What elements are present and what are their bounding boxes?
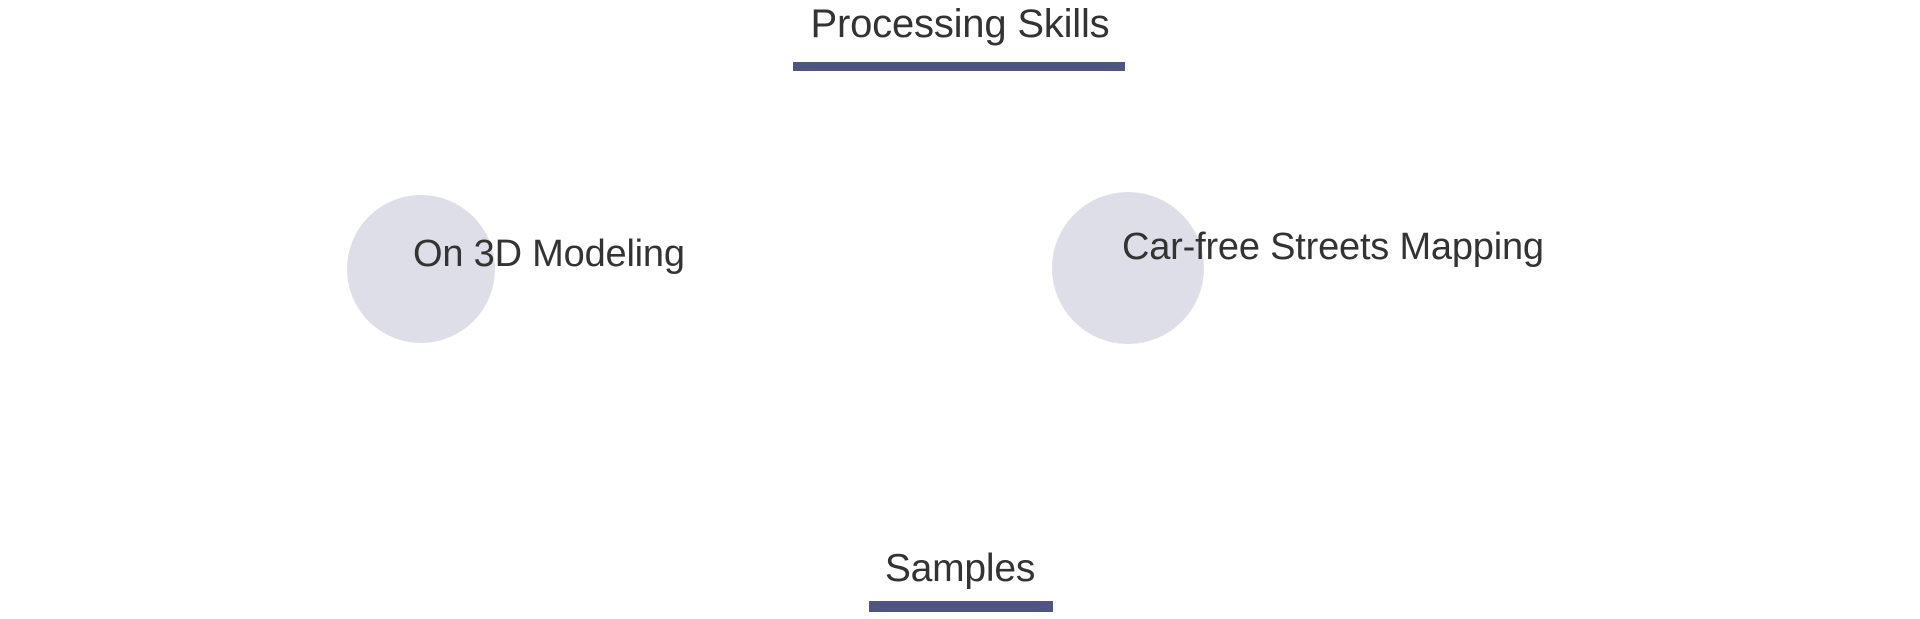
diagram-canvas: Processing Skills On 3D Modeling Car-fre…	[0, 0, 1920, 619]
node-label-car-free-streets-mapping: Car-free Streets Mapping	[1122, 228, 1544, 266]
samples-heading-rule	[869, 601, 1053, 612]
samples-heading: Samples	[0, 549, 1920, 588]
node-label-on-3d-modeling: On 3D Modeling	[413, 235, 685, 273]
processing-skills-heading: Processing Skills	[0, 4, 1920, 44]
processing-skills-heading-rule	[793, 62, 1125, 71]
node-circle-icon	[1052, 192, 1204, 344]
